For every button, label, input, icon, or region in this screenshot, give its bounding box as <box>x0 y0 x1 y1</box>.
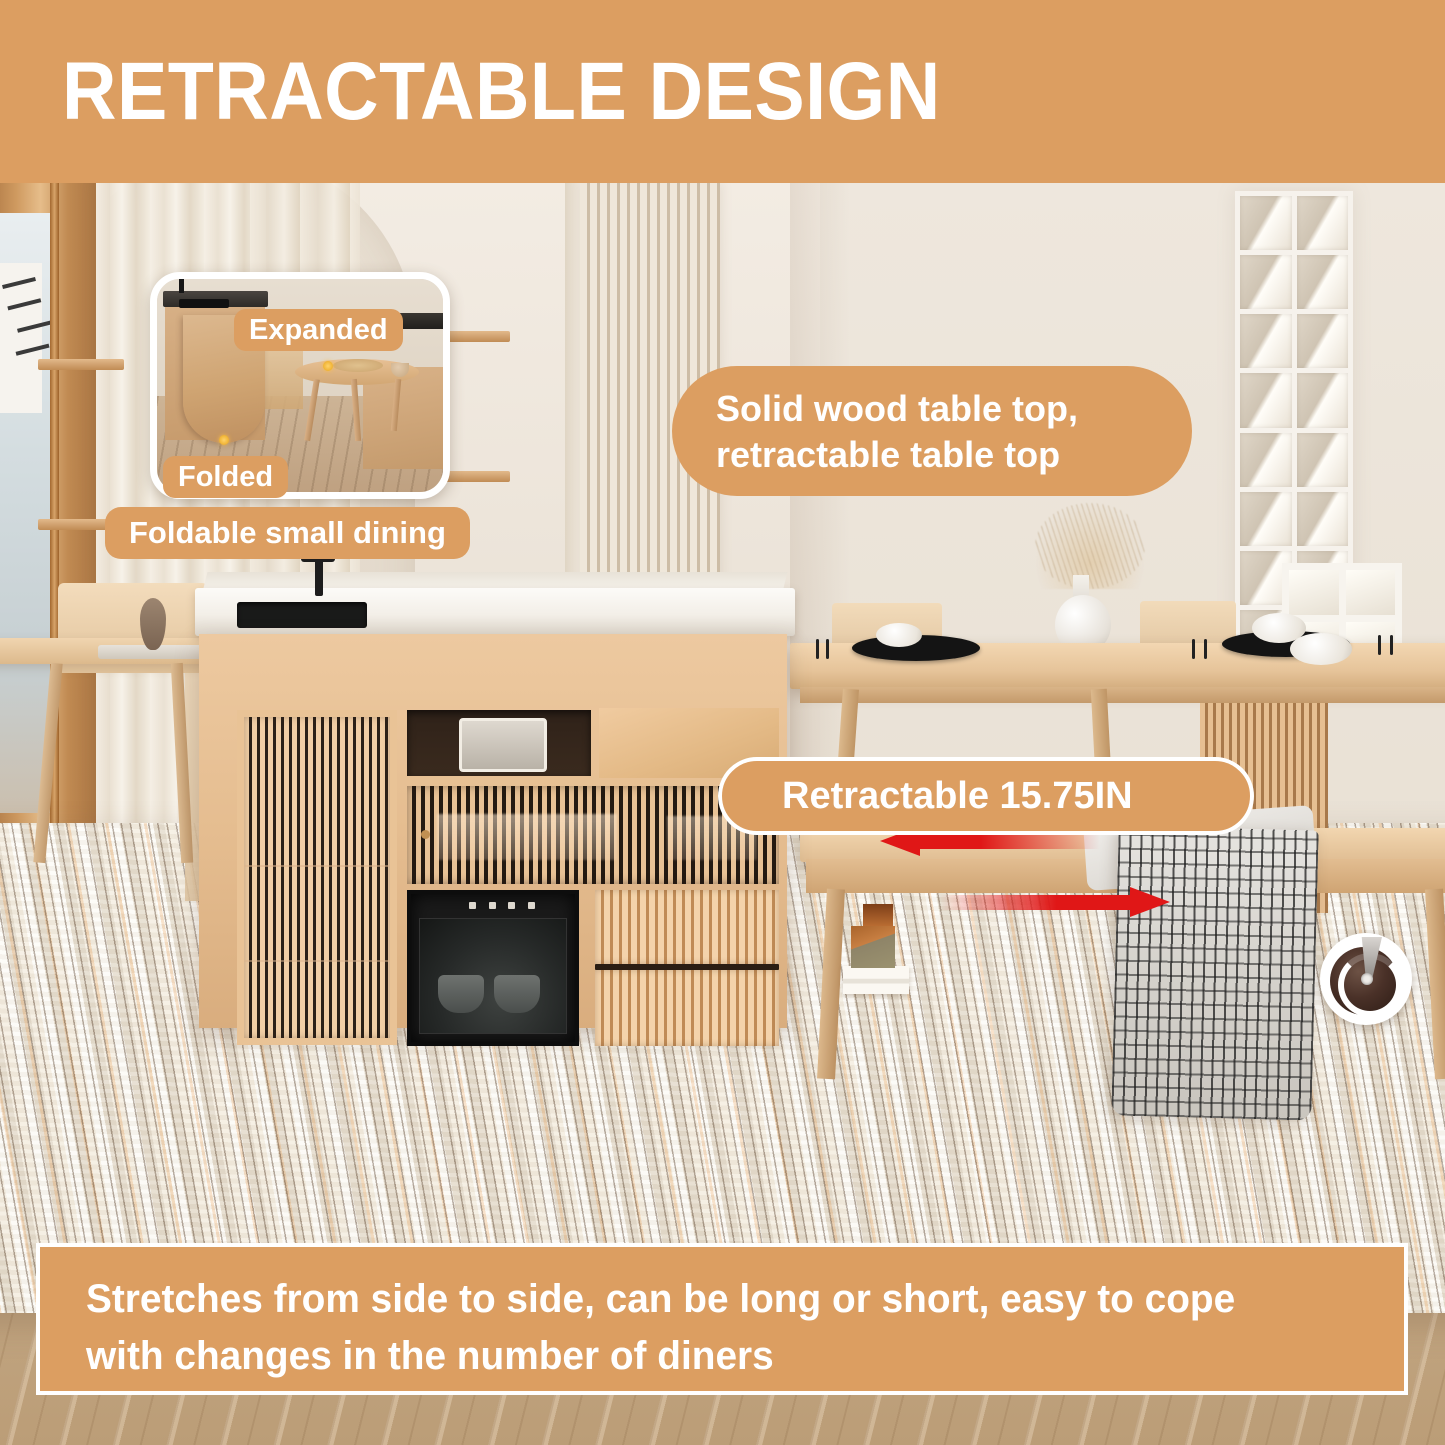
window-frame <box>0 183 110 903</box>
callout-retractable-dimension: Retractable 15.75IN <box>718 757 1254 835</box>
header-banner: RETRACTABLE DESIGN <box>0 0 1445 183</box>
infographic-page: RETRACTABLE DESIGN Expanded <box>0 0 1445 1445</box>
lattice-cell <box>1240 314 1292 368</box>
lattice-cell <box>1297 314 1349 368</box>
caster-wheel-icon <box>1320 933 1412 1025</box>
callout-solid-wood-line2: retractable table top <box>716 432 1148 478</box>
label-folded: Folded <box>163 456 288 498</box>
cutlery <box>816 639 819 659</box>
background-vase <box>140 598 166 650</box>
shelf-storage-box <box>459 718 547 772</box>
lattice-cell <box>1240 255 1292 309</box>
pampas-grass <box>1035 503 1145 589</box>
wall-artwork <box>0 263 42 413</box>
interior-glow <box>437 814 617 860</box>
oven-control-dot <box>489 902 496 909</box>
sink-basin <box>237 602 367 628</box>
lattice-cell <box>1297 492 1349 546</box>
island-countertop <box>195 588 795 636</box>
window-pane <box>1289 570 1339 615</box>
slatted-drawer-upper <box>595 890 779 964</box>
bowl <box>876 623 922 647</box>
label-expanded-text: Expanded <box>249 314 388 347</box>
footer-line-1: Stretches from side to side, can be long… <box>86 1271 1320 1328</box>
inset-counter <box>163 291 268 307</box>
label-expanded: Expanded <box>234 309 403 351</box>
inset-sink <box>179 299 229 308</box>
arrow-shaft <box>916 834 1100 849</box>
arrow-shaft <box>940 895 1134 910</box>
oven-glass-door <box>419 918 567 1034</box>
window-mullion <box>50 183 59 903</box>
footer-line-2: with changes in the number of diners <box>86 1328 1320 1385</box>
cabinet-knob <box>421 830 430 839</box>
wall-trim-left-upper <box>38 359 124 370</box>
oven-control-dot <box>469 902 476 909</box>
kitchen-island <box>195 588 795 1028</box>
callout-solid-wood-table-top: Solid wood table top, retractable table … <box>672 366 1192 496</box>
slatted-cabinet-door <box>237 710 397 1045</box>
page-title: RETRACTABLE DESIGN <box>62 45 941 139</box>
cutlery <box>1378 635 1381 655</box>
slatted-drawer-lower <box>595 970 779 1046</box>
arrow-right-icon <box>940 887 1170 917</box>
caster-wheel-hub <box>1361 973 1373 985</box>
callout-solid-wood-line1: Solid wood table top, <box>716 386 1148 432</box>
open-shelf <box>407 710 591 776</box>
cutlery <box>1204 639 1207 659</box>
stacked-books <box>843 966 909 994</box>
lattice-cell <box>1240 492 1292 546</box>
lattice-cell <box>1297 373 1349 427</box>
callout-retractable-text: Retractable 15.75IN <box>782 775 1133 818</box>
island-cabinet-body <box>199 634 787 1028</box>
label-folded-text: Folded <box>178 461 273 494</box>
decorative-object <box>851 926 895 968</box>
lattice-cell <box>1240 196 1292 250</box>
lattice-cell <box>1297 196 1349 250</box>
window-pane <box>1346 570 1396 615</box>
oven-control-dot <box>528 902 535 909</box>
cutlery <box>1192 639 1195 659</box>
cutlery <box>826 639 829 659</box>
footer-banner: Stretches from side to side, can be long… <box>36 1243 1408 1395</box>
label-foldable-small-dining: Foldable small dining <box>105 507 470 559</box>
label-foldable-text: Foldable small dining <box>129 515 446 551</box>
lattice-cell <box>1240 373 1292 427</box>
inset-plate <box>333 359 383 372</box>
cutlery <box>1390 635 1393 655</box>
oven-control-panel <box>469 902 535 911</box>
hinge-marker-dot <box>323 361 333 371</box>
arrow-head <box>1130 887 1170 917</box>
lattice-cell <box>1240 433 1292 487</box>
inset-faucet <box>179 279 184 293</box>
bowl <box>1290 633 1352 665</box>
cooking-pot <box>494 975 540 1013</box>
cooking-pot <box>438 975 484 1013</box>
hinge-marker-dot <box>219 435 229 445</box>
oven-control-dot <box>508 902 515 909</box>
lattice-cell <box>1297 255 1349 309</box>
built-in-oven <box>407 890 579 1046</box>
table-apron <box>800 687 1445 703</box>
lattice-cell <box>1297 433 1349 487</box>
throw-blanket <box>1111 825 1319 1120</box>
